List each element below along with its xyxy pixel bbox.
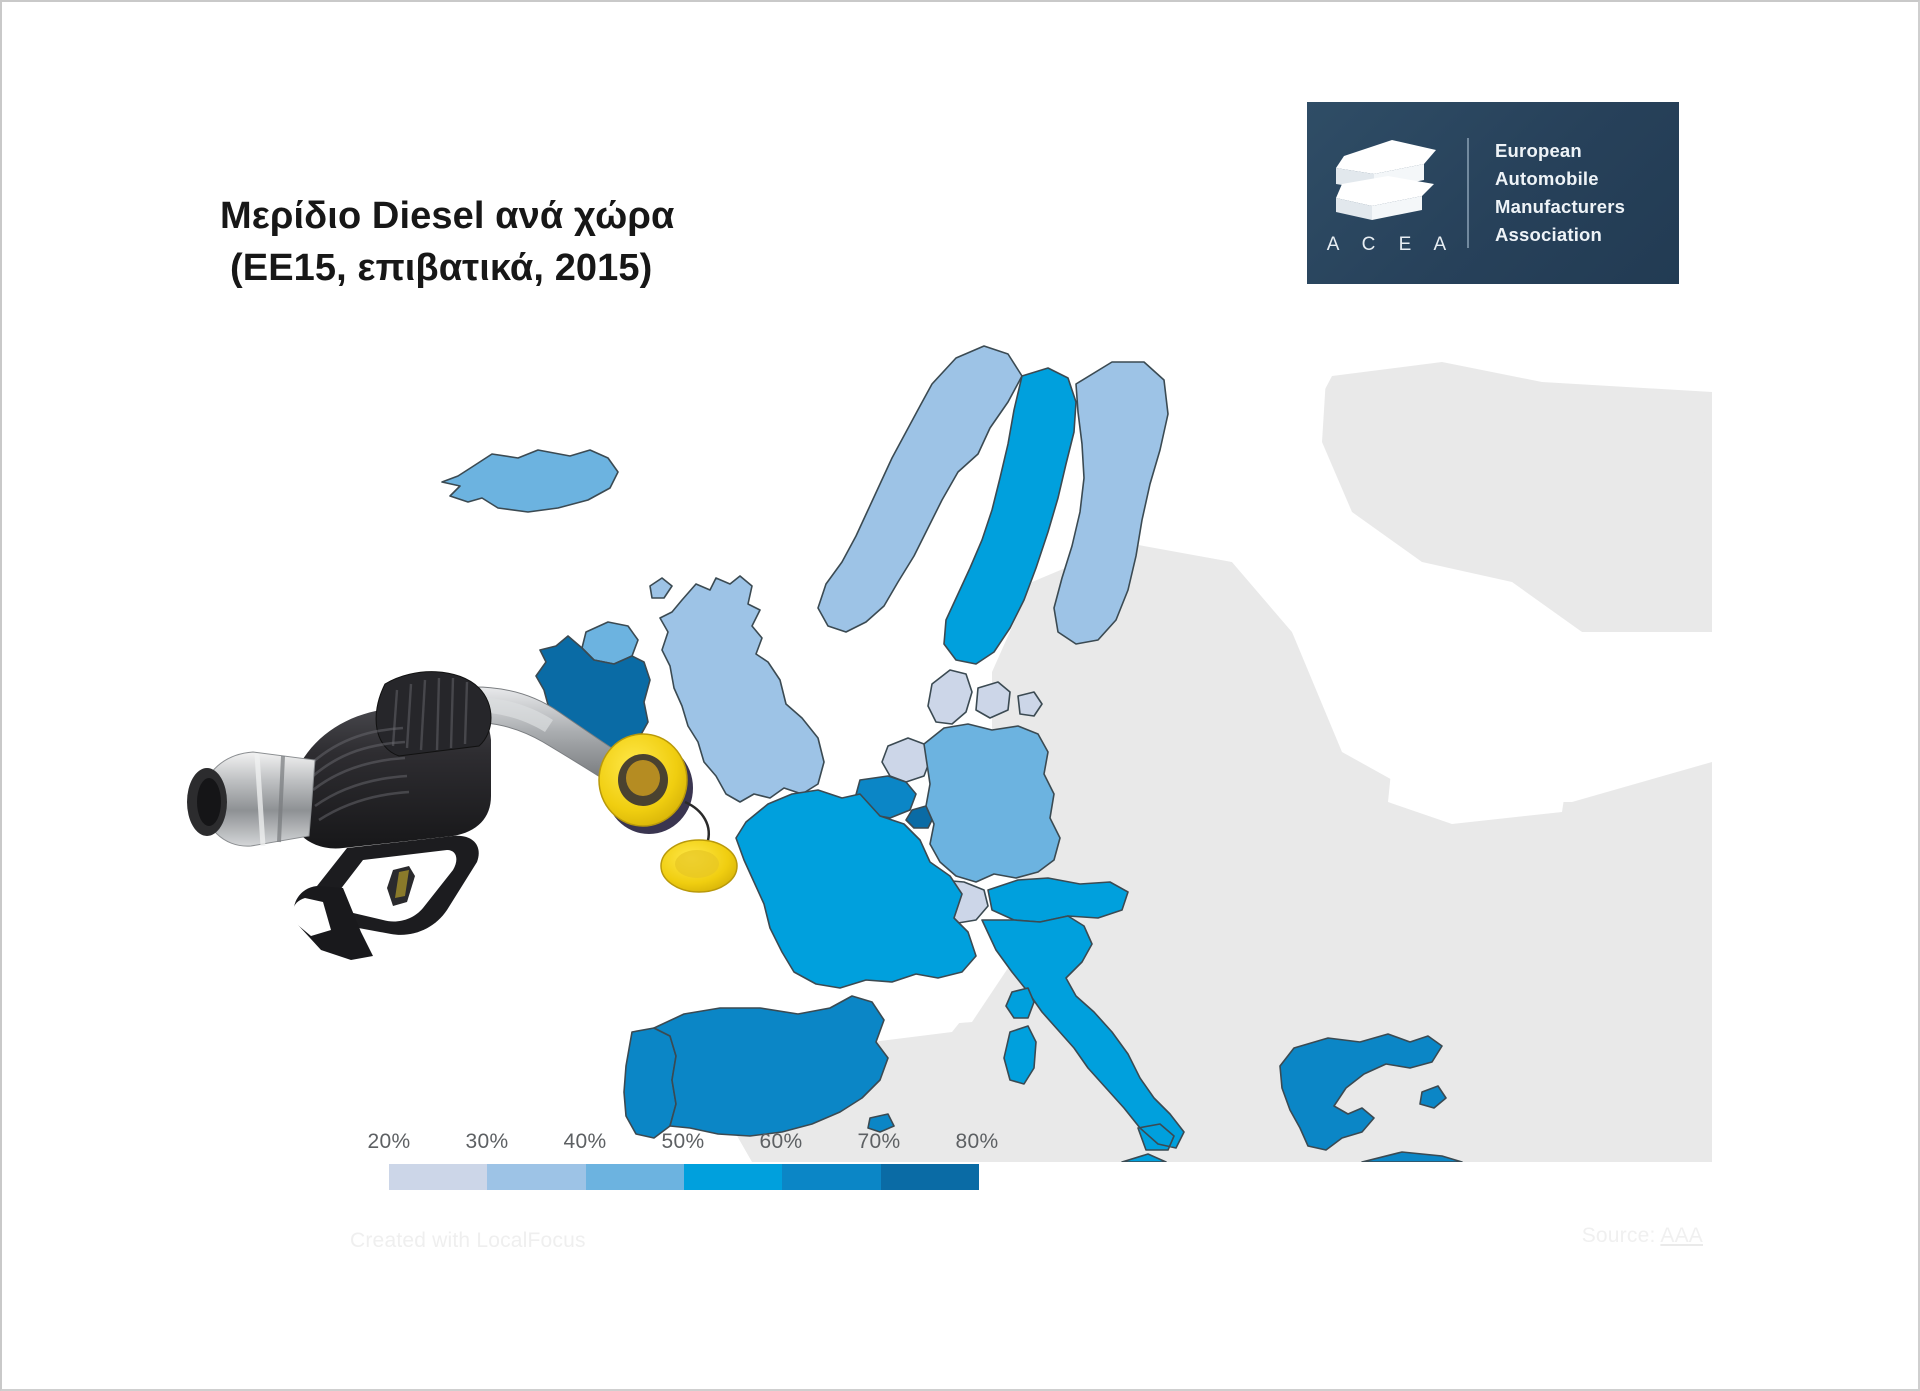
legend-tick-labels: 20% 30% 40% 50% 60% 70% 80% — [347, 1130, 1027, 1164]
legend-tick-20: 20% — [368, 1130, 411, 1154]
legend-swatch-4 — [684, 1164, 782, 1190]
source-label: Source: — [1582, 1224, 1661, 1247]
acea-name-line-4: Association — [1495, 221, 1625, 249]
acea-name-line-1: European — [1495, 137, 1625, 165]
source-name[interactable]: AAA — [1660, 1224, 1703, 1247]
acea-logo: A C E A European Automobile Manufacturer… — [1307, 102, 1679, 284]
legend-tick-80: 80% — [956, 1130, 999, 1154]
legend-swatch-2 — [487, 1164, 585, 1190]
legend-swatch-3 — [586, 1164, 684, 1190]
acea-full-name: European Automobile Manufacturers Associ… — [1469, 137, 1625, 249]
acea-name-line-3: Manufacturers — [1495, 193, 1625, 221]
legend-tick-30: 30% — [466, 1130, 509, 1154]
country-germany[interactable] — [924, 724, 1060, 882]
acea-name-line-2: Automobile — [1495, 165, 1625, 193]
title-line-2: (ΕΕ15, επιβατικά, 2015) — [220, 242, 980, 294]
source-credit: Source: AAA — [1582, 1224, 1703, 1248]
acea-wordmark: A C E A — [1319, 234, 1455, 256]
slide-canvas: Μερίδιο Diesel ανά χώρα (ΕΕ15, επιβατικά… — [0, 0, 1920, 1391]
page-title: Μερίδιο Diesel ανά χώρα (ΕΕ15, επιβατικά… — [220, 190, 980, 295]
acea-emblem-icon: A C E A — [1307, 100, 1467, 286]
title-line-1: Μερίδιο Diesel ανά χώρα — [220, 190, 980, 242]
logo-divider — [1467, 138, 1469, 248]
legend-tick-60: 60% — [760, 1130, 803, 1154]
legend-color-scale[interactable] — [389, 1164, 979, 1190]
legend-tick-40: 40% — [564, 1130, 607, 1154]
nozzle-ferrule — [187, 752, 315, 846]
legend-swatch-6 — [881, 1164, 979, 1190]
fuel-cap-icon — [599, 734, 737, 892]
attribution-localfocus: Created with LocalFocus — [350, 1229, 586, 1253]
legend-swatch-1 — [389, 1164, 487, 1190]
fuel-nozzle-icon — [147, 620, 757, 960]
legend-swatch-5 — [782, 1164, 880, 1190]
legend-tick-50: 50% — [662, 1130, 705, 1154]
map-legend: 20% 30% 40% 50% 60% 70% 80% — [347, 1130, 1027, 1190]
country-austria[interactable] — [988, 878, 1128, 922]
country-portugal[interactable] — [624, 1028, 676, 1138]
legend-tick-70: 70% — [858, 1130, 901, 1154]
